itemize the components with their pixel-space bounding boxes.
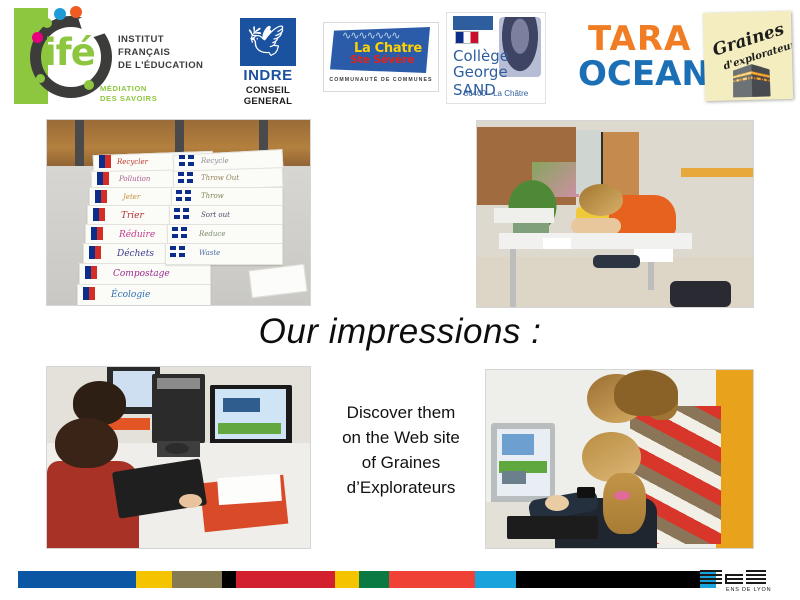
ife-line-3: DE L'ÉDUCATION — [118, 60, 203, 73]
photo4-orange-wall-panel — [716, 370, 753, 548]
ens-stripe — [746, 578, 766, 580]
french-flag-icon — [89, 246, 101, 259]
ens-stripe — [746, 570, 766, 572]
french-flag-icon — [95, 190, 107, 203]
uk-flag-icon — [176, 190, 191, 201]
ife-dot-magenta-icon — [32, 32, 43, 43]
french-flag-icon — [97, 172, 109, 185]
discover-line-2: on the Web site — [316, 425, 486, 450]
photo3-tower-panel — [157, 378, 199, 389]
ens-stripe — [725, 578, 743, 580]
ife-tagline: MÉDIATION DES SAVOIRS — [100, 84, 157, 104]
discover-line-4: d’Explorateurs — [316, 475, 486, 500]
ife-dot-green3-icon — [84, 80, 94, 90]
photo2-wall-shelf — [681, 168, 753, 177]
photo4-hair-tie — [614, 491, 630, 500]
logo-ens-de-lyon: ENS DE LYON — [700, 570, 776, 594]
butterfly-icon: 🕋 — [730, 61, 773, 96]
photo1-word-fr: Jeter — [123, 193, 140, 201]
photo1-word-fr: Pollution — [119, 175, 150, 183]
ife-dot-blue-icon — [54, 8, 66, 20]
ens-stripe — [725, 574, 727, 584]
discover-line-1: Discover them — [316, 400, 486, 425]
college-header-band — [453, 16, 493, 30]
tara-line-1: TARA — [578, 22, 700, 56]
photo1-desk-leg — [75, 120, 84, 170]
footer-color-segment — [136, 571, 172, 588]
ens-mark-icon — [700, 570, 768, 585]
photo-classroom-vocabulary-cards: Recycler Pollution Jeter Trier Réduire D… — [46, 119, 311, 306]
photo4-keyboard — [507, 516, 598, 539]
french-flag-icon — [455, 31, 479, 44]
uk-flag-icon — [170, 246, 185, 257]
photo3-screen-image — [223, 398, 260, 412]
ens-caption: ENS DE LYON — [726, 587, 771, 593]
logo-college-george-sand: Collège George SAND 36400 - La Châtre — [446, 12, 546, 104]
ife-dot-orange-icon — [70, 6, 82, 18]
ife-tagline-2: DES SAVOIRS — [100, 94, 157, 104]
photo1-word-fr: Écologie — [111, 290, 150, 300]
ife-dot-green2-icon — [36, 74, 45, 83]
french-flag-icon — [91, 227, 103, 240]
french-flag-icon — [93, 208, 105, 221]
discover-line-3: of Graines — [316, 450, 486, 475]
ens-stripe — [725, 574, 743, 576]
header-logo-strip: ifé INSTITUT FRANÇAIS DE L'ÉDUCATION MÉD… — [0, 0, 800, 112]
page-title: Our impressions : — [0, 312, 800, 352]
photo4-pupil-hand — [545, 495, 569, 511]
ife-line-1: INSTITUT — [118, 34, 203, 47]
photo1-word-en: Waste — [199, 249, 220, 257]
photo4-screen-thumbnail — [502, 471, 526, 483]
footer-color-segment — [222, 571, 236, 588]
logo-indre-conseil-general: 🕊 INDRE CONSEIL GENERAL — [222, 18, 314, 100]
french-flag-icon — [85, 266, 97, 279]
photo1-word-en: Throw Out — [201, 174, 239, 182]
photo-pupils-at-computers — [46, 366, 311, 549]
logo-tara-oceans: TARA OCEANS — [578, 22, 700, 94]
dove-icon: 🕊 — [247, 23, 285, 61]
ens-stripe — [700, 570, 722, 572]
uk-flag-icon — [172, 227, 187, 238]
french-flag-icon — [83, 287, 95, 300]
photo3-screen-banner — [218, 423, 281, 434]
footer-color-segment — [236, 571, 335, 588]
photo1-word-en: Recycle — [201, 157, 229, 165]
indre-title: INDRE — [222, 67, 314, 84]
footer-color-segment — [335, 571, 359, 588]
photo-boy-writing-at-desk — [476, 120, 754, 308]
ife-institute-name: INSTITUT FRANÇAIS DE L'ÉDUCATION — [118, 34, 203, 72]
discover-text: Discover them on the Web site of Graines… — [316, 400, 486, 500]
ife-dot-green-icon — [42, 18, 52, 28]
ens-stripe — [746, 582, 766, 584]
photo2-paper — [634, 249, 673, 262]
french-flag-icon — [99, 155, 111, 168]
photo1-word-fr: Trier — [121, 211, 144, 221]
ens-stripe — [700, 574, 722, 576]
ens-stripe — [700, 578, 722, 580]
photo2-side-table — [494, 208, 555, 223]
photo2-paper — [543, 238, 571, 249]
chatre-caption: COMMUNAUTÉ DE COMMUNES — [324, 77, 438, 83]
ife-acronym: ifé — [44, 34, 95, 71]
footer: ENS DE LYON — [0, 568, 800, 600]
uk-flag-icon — [174, 208, 189, 219]
photo3-pupil-head-front — [55, 418, 118, 469]
photo2-pupil-head — [579, 184, 623, 216]
photo1-word-fr: Recycler — [117, 158, 148, 166]
footer-color-segment — [389, 571, 475, 588]
logo-graines-dexplorateurs: Graines d'explorateurs 🕋 — [703, 11, 793, 101]
footer-color-segment — [18, 571, 136, 588]
college-address: 36400 - La Châtre — [447, 89, 545, 98]
photo2-desk — [499, 233, 692, 250]
photo1-word-fr: Compostage — [113, 269, 170, 279]
footer-color-segment — [172, 571, 222, 588]
photo1-word-en: Throw — [201, 192, 224, 200]
footer-color-segment — [359, 571, 389, 588]
indre-emblem: 🕊 — [240, 18, 296, 66]
photo3-mouse — [165, 443, 189, 454]
photo1-word-fr: Déchets — [117, 249, 154, 259]
uk-flag-icon — [178, 172, 193, 183]
tara-line-2: OCEANS — [578, 56, 700, 92]
photo1-word-en: Sort out — [201, 211, 230, 219]
photo1-word-en: Reduce — [199, 230, 225, 238]
ens-stripe — [700, 582, 722, 584]
photo4-screen-image — [502, 434, 534, 455]
indre-subtitle: CONSEIL GENERAL — [222, 85, 314, 107]
photo3-paper-sheet — [217, 473, 282, 504]
photo4-pupil-braid — [603, 473, 646, 534]
logo-la-chatre: ∿∿∿∿∿∿∿ La Chatre Ste Sévère COMMUNAUTÉ … — [323, 22, 439, 92]
logo-ife: ifé INSTITUT FRANÇAIS DE L'ÉDUCATION MÉD… — [14, 6, 210, 108]
photo1-word-fr: Réduire — [119, 230, 155, 240]
photo-teacher-helping-pupil — [485, 369, 754, 549]
photo4-wristwatch — [577, 487, 596, 498]
ife-tagline-1: MÉDIATION — [100, 84, 157, 94]
ens-stripe — [746, 574, 766, 576]
photo2-backpack — [670, 281, 731, 307]
ens-stripe — [725, 582, 743, 584]
photo2-desk-leg — [510, 249, 516, 307]
photo2-pencil-case — [593, 255, 640, 268]
ife-line-2: FRANÇAIS — [118, 47, 203, 60]
chatre-line-2: Ste Sévère — [350, 53, 414, 66]
uk-flag-icon — [179, 155, 194, 166]
photo4-teacher-hair — [614, 370, 678, 416]
